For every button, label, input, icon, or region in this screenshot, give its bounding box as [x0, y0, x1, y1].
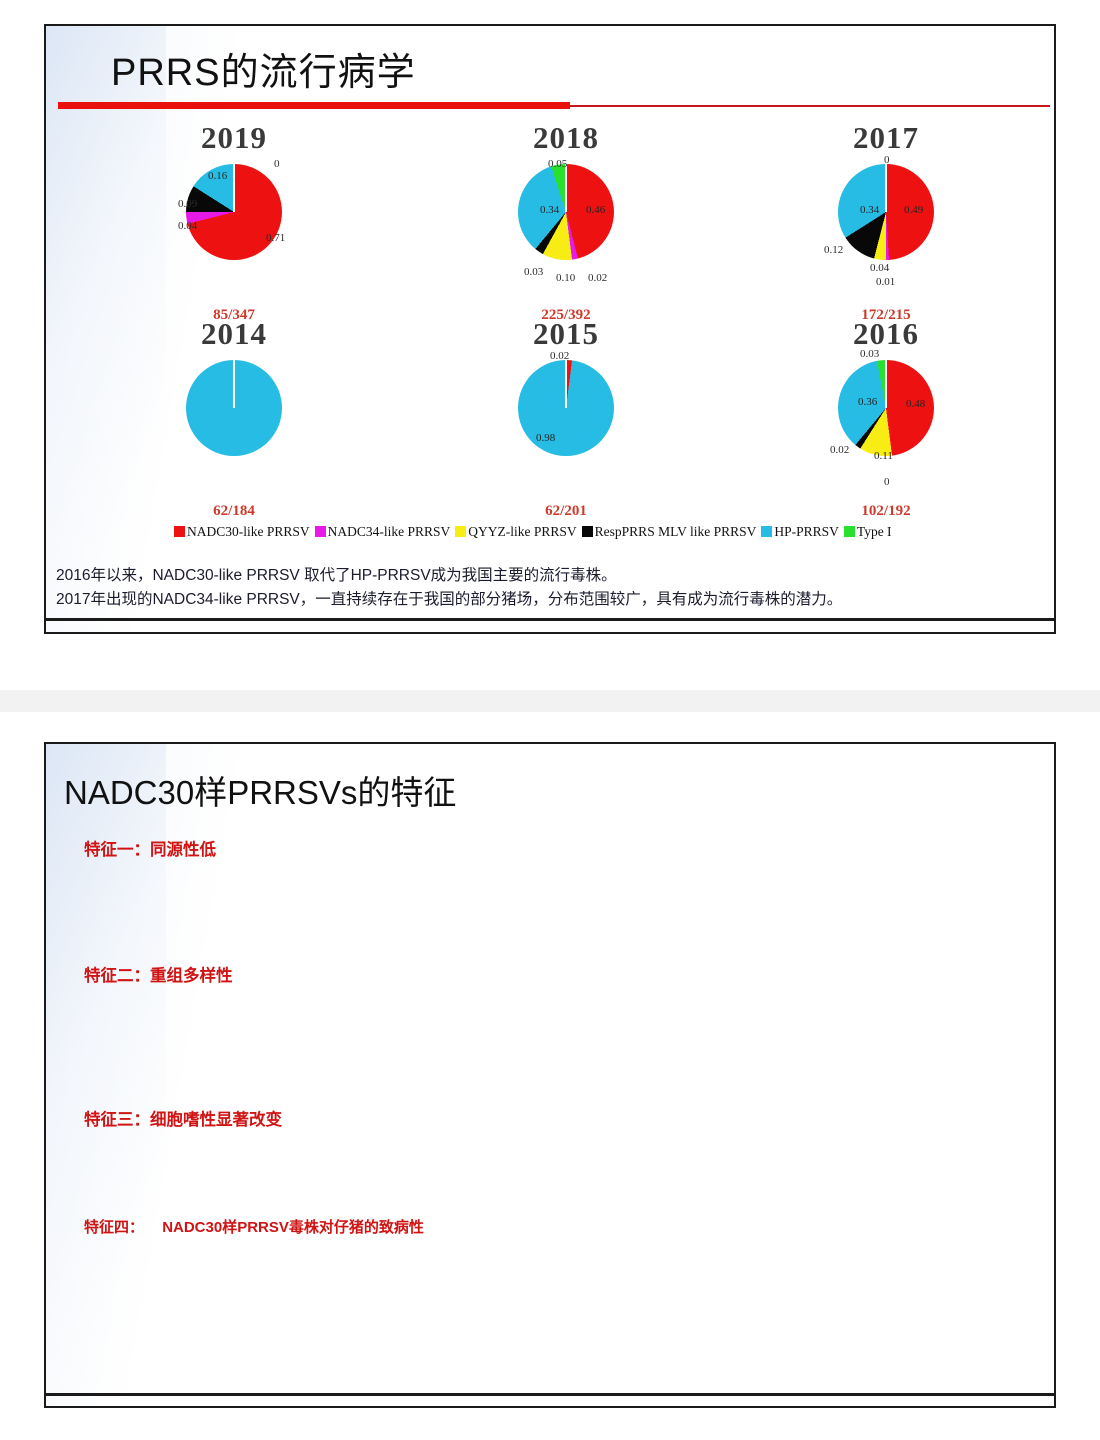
pie-slice-value-label: 0.09 [178, 198, 197, 210]
pie-body [186, 164, 282, 260]
legend-item: NADC34-like PRRSV [315, 524, 451, 539]
pie-slice-value-label: 0.02 [830, 444, 849, 456]
title-rule-red [58, 102, 570, 109]
pie-fraction-label: 62/184 [66, 503, 402, 520]
legend-swatch-icon [761, 526, 772, 537]
pie-slice-value-label: 0.12 [824, 244, 843, 256]
slide2-bottom-rule [46, 1393, 1054, 1396]
pie-slice-value-label: 0.34 [860, 204, 879, 216]
page-title: PRRS的流行病学 [111, 41, 416, 96]
feature-label-3: 特征三：细胞嗜性显著改变 [84, 1106, 282, 1130]
slide1-bottom-rule [46, 618, 1054, 621]
pie-slice-value-label: 0.02 [550, 350, 569, 362]
legend-label: Type I [857, 524, 892, 539]
pie-chart-2017: 201700.340.490.120.040.01172/215 [718, 120, 1054, 320]
pie-slice-value-label: 0 [884, 476, 890, 488]
pie-slice-value-label: 0.04 [870, 262, 889, 274]
pie-slice-value-label: 0.71 [266, 232, 285, 244]
legend-label: HP-PRRSV [774, 524, 839, 539]
pie-chart-2015: 20150.020.9862/201 [398, 316, 734, 516]
pie-start-gap [233, 164, 235, 212]
pie-start-gap [885, 360, 887, 408]
legend-swatch-icon [455, 526, 466, 537]
pie-slice-value-label: 0.16 [208, 170, 227, 182]
pie-year-label: 2014 [66, 316, 402, 352]
pie-year-label: 2016 [718, 316, 1054, 352]
pie-slice-value-label: 0.03 [860, 348, 879, 360]
pie-slice-value-label: 0.46 [586, 204, 605, 216]
pie-slice-value-label: 0 [274, 158, 280, 170]
pie-start-gap [565, 360, 567, 408]
feature-4-prefix: 特征四： [84, 1219, 144, 1236]
legend-label: QYYZ-like PRRSV [468, 524, 576, 539]
summary-note-line: 2016年以来，NADC30-like PRRSV 取代了HP-PRRSV成为我… [56, 564, 1046, 588]
pie-slice-value-label: 0.01 [876, 276, 895, 288]
legend-item: Type I [844, 524, 892, 539]
slide1-frame: PRRS的流行病学 201900.160.090.040.7185/347201… [44, 24, 1056, 634]
pie-slice-value-label: 0.02 [588, 272, 607, 284]
legend-item: QYYZ-like PRRSV [455, 524, 576, 539]
summary-notes: 2016年以来，NADC30-like PRRSV 取代了HP-PRRSV成为我… [56, 564, 1046, 612]
pie-slice-value-label: 0.04 [178, 220, 197, 232]
pie-slice-value-label: 0.98 [536, 432, 555, 444]
legend-swatch-icon [315, 526, 326, 537]
pie-year-label: 2015 [398, 316, 734, 352]
feature-label-1: 特征一：同源性低 [84, 836, 216, 860]
pie-chart-2018: 20180.050.340.460.030.100.02225/392 [398, 120, 734, 320]
pie-year-label: 2018 [398, 120, 734, 156]
feature-4-text: NADC30样PRRSV毒株对仔猪的致病性 [162, 1219, 424, 1236]
pie-chart-2014: 201462/184 [66, 316, 402, 516]
legend-swatch-icon [582, 526, 593, 537]
page-title-2: NADC30样PRRSVs的特征 [64, 766, 456, 814]
pie-chart-2019: 201900.160.090.040.7185/347 [66, 120, 402, 320]
pie-slice-value-label: 0.49 [904, 204, 923, 216]
summary-note-line: 2017年出现的NADC34-like PRRSV，一直持续存在于我国的部分猪场… [56, 588, 1046, 612]
legend-item: RespPRRS MLV like PRRSV [582, 524, 757, 539]
pie-slices [186, 360, 282, 456]
pie-slice-value-label: 0.10 [556, 272, 575, 284]
pie-slice-value-label: 0 [884, 154, 890, 166]
pie-slice-value-label: 0.34 [540, 204, 559, 216]
legend-label: RespPRRS MLV like PRRSV [595, 524, 757, 539]
legend-item: NADC30-like PRRSV [174, 524, 310, 539]
pie-chart-2016: 20160.030.360.480.020.110102/192 [718, 316, 1054, 516]
chart-legend: NADC30-like PRRSVNADC34-like PRRSVQYYZ-l… [174, 522, 934, 541]
title-rule-thin [570, 105, 1050, 107]
legend-label: NADC34-like PRRSV [328, 524, 451, 539]
legend-item: HP-PRRSV [761, 524, 839, 539]
legend-swatch-icon [174, 526, 185, 537]
pie-slices [518, 360, 614, 456]
legend-label: NADC30-like PRRSV [187, 524, 310, 539]
pie-slice-value-label: 0.36 [858, 396, 877, 408]
slide-separator [0, 690, 1100, 712]
pie-body [518, 360, 614, 456]
pie-slice-value-label: 0.48 [906, 398, 925, 410]
pie-fraction-label: 102/192 [718, 503, 1054, 520]
pie-year-label: 2019 [66, 120, 402, 156]
pie-start-gap [233, 360, 235, 408]
pie-start-gap [885, 164, 887, 212]
pie-slice-value-label: 0.03 [524, 266, 543, 278]
slide2-frame: NADC30样PRRSVs的特征 特征一：同源性低 特征二：重组多样性 特征三：… [44, 742, 1056, 1408]
pie-slices [186, 164, 282, 260]
legend-swatch-icon [844, 526, 855, 537]
feature-label-2: 特征二：重组多样性 [84, 962, 233, 986]
pie-slice-value-label: 0.05 [548, 158, 567, 170]
pie-year-label: 2017 [718, 120, 1054, 156]
pie-start-gap [565, 164, 567, 212]
pie-body [186, 360, 282, 456]
feature-label-4: 特征四： NADC30样PRRSV毒株对仔猪的致病性 [84, 1216, 424, 1237]
slide-prrs-epidemiology: PRRS的流行病学 201900.160.090.040.7185/347201… [0, 0, 1100, 690]
pie-slice-value-label: 0.11 [874, 450, 893, 462]
slide-nadc30-features: NADC30样PRRSVs的特征 特征一：同源性低 特征二：重组多样性 特征三：… [0, 712, 1100, 1440]
pie-fraction-label: 62/201 [398, 503, 734, 520]
